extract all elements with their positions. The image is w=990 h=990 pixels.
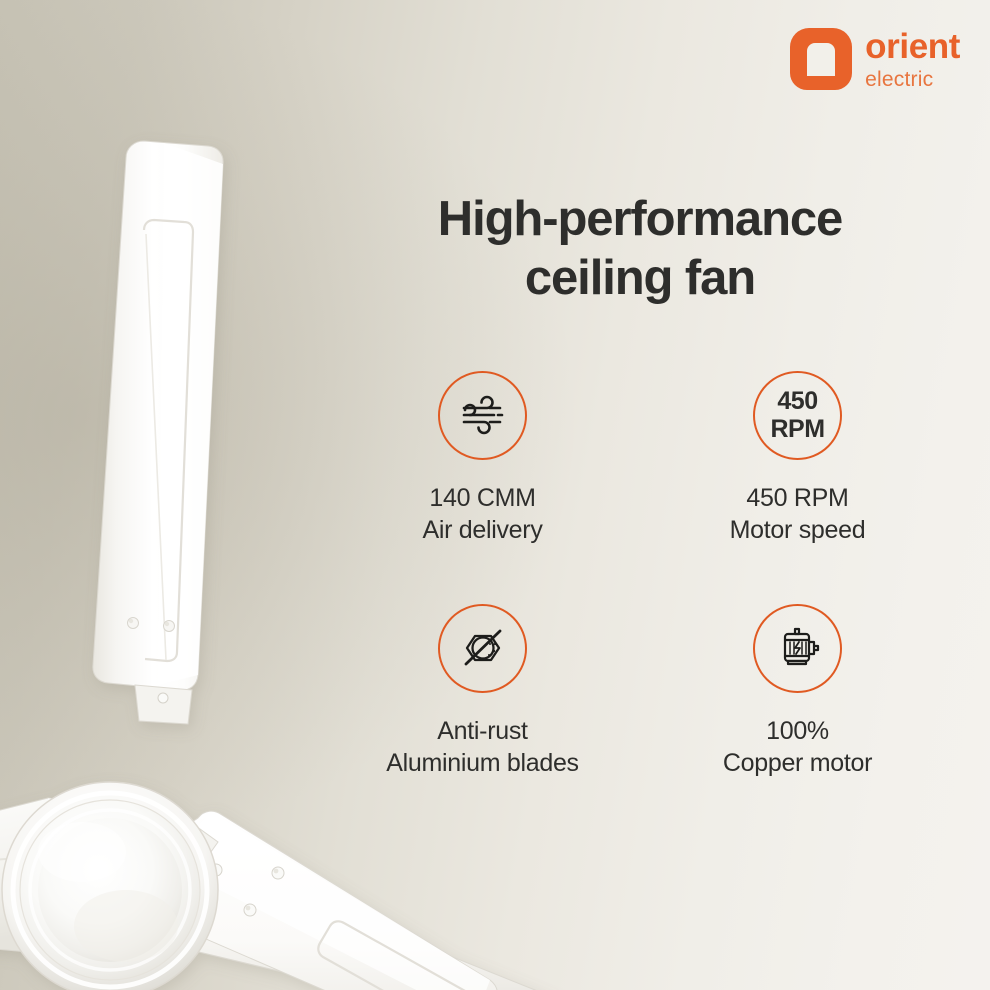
wind-airflow-icon <box>460 395 506 435</box>
feature-motor-speed: 450 RPM 450 RPM Motor speed <box>645 371 950 546</box>
product-marketing-canvas: orient electric High-performance ceiling… <box>0 0 990 990</box>
feature-caption: 450 RPM Motor speed <box>730 482 866 546</box>
brand-logo[interactable]: orient electric <box>790 28 960 90</box>
feature-caption: Anti-rust Aluminium blades <box>386 715 579 779</box>
feature-caption: 140 CMM Air delivery <box>422 482 542 546</box>
feature-badge-circle <box>438 371 527 460</box>
brand-wordmark: orient electric <box>865 29 960 90</box>
anti-rust-nut-icon <box>459 625 507 671</box>
page-title: High-performance ceiling fan <box>330 190 950 309</box>
rpm-value: 450 <box>777 389 817 414</box>
feature-grid: 140 CMM Air delivery 450 RPM 450 RPM Mot… <box>330 371 950 779</box>
rpm-text-badge-icon: 450 RPM <box>770 389 824 442</box>
feature-badge-circle <box>438 604 527 693</box>
feature-caption: 100% Copper motor <box>723 715 872 779</box>
feature-air-delivery: 140 CMM Air delivery <box>330 371 635 546</box>
content-panel: High-performance ceiling fan 140 CMM Air <box>330 190 950 779</box>
feature-badge-circle: 450 RPM <box>753 371 842 460</box>
fan-hub-canopy <box>2 782 218 990</box>
brand-tagline: electric <box>865 69 960 90</box>
orient-q-mark-icon <box>790 28 852 90</box>
brand-name: orient <box>865 29 960 64</box>
feature-copper-motor: 100% Copper motor <box>645 604 950 779</box>
fan-blade-top <box>93 141 223 724</box>
feature-badge-circle <box>753 604 842 693</box>
copper-motor-icon <box>775 625 821 671</box>
rpm-unit: RPM <box>770 417 824 442</box>
feature-anti-rust: Anti-rust Aluminium blades <box>330 604 635 779</box>
